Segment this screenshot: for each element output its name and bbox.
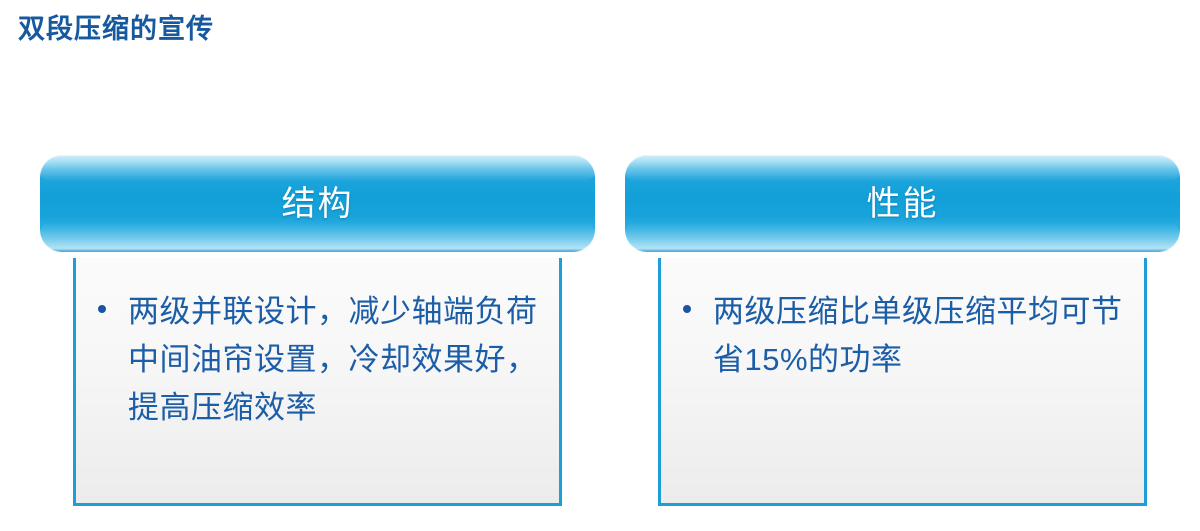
card-performance-header[interactable]: 性能 (625, 155, 1180, 252)
card-performance: 性能 两级压缩比单级压缩平均可节省15%的功率 (625, 155, 1180, 506)
card-structure-header-label: 结构 (282, 184, 354, 224)
card-performance-bullet-text: 两级压缩比单级压缩平均可节省15%的功率 (713, 288, 1144, 384)
card-performance-header-label: 性能 (867, 184, 939, 224)
card-performance-body: 两级压缩比单级压缩平均可节省15%的功率 (658, 258, 1147, 506)
card-structure: 结构 两级并联设计，减少轴端负荷 中间油帘设置，冷却效果好，提高压缩效率 (40, 155, 595, 506)
bullet-dot-icon (683, 305, 691, 313)
card-structure-bullet-text: 两级并联设计，减少轴端负荷 中间油帘设置，冷却效果好，提高压缩效率 (128, 288, 559, 432)
list-item: 两级并联设计，减少轴端负荷 中间油帘设置，冷却效果好，提高压缩效率 (76, 258, 559, 432)
card-structure-header[interactable]: 结构 (40, 155, 595, 252)
page-title: 双段压缩的宣传 (18, 12, 214, 46)
bullet-marker (661, 288, 713, 384)
list-item: 两级压缩比单级压缩平均可节省15%的功率 (661, 258, 1144, 384)
bullet-dot-icon (98, 305, 106, 313)
card-structure-body: 两级并联设计，减少轴端负荷 中间油帘设置，冷却效果好，提高压缩效率 (73, 258, 562, 506)
bullet-marker (76, 288, 128, 432)
slide-canvas: { "slide": { "title": "双段压缩的宣传", "title_… (0, 0, 1200, 531)
